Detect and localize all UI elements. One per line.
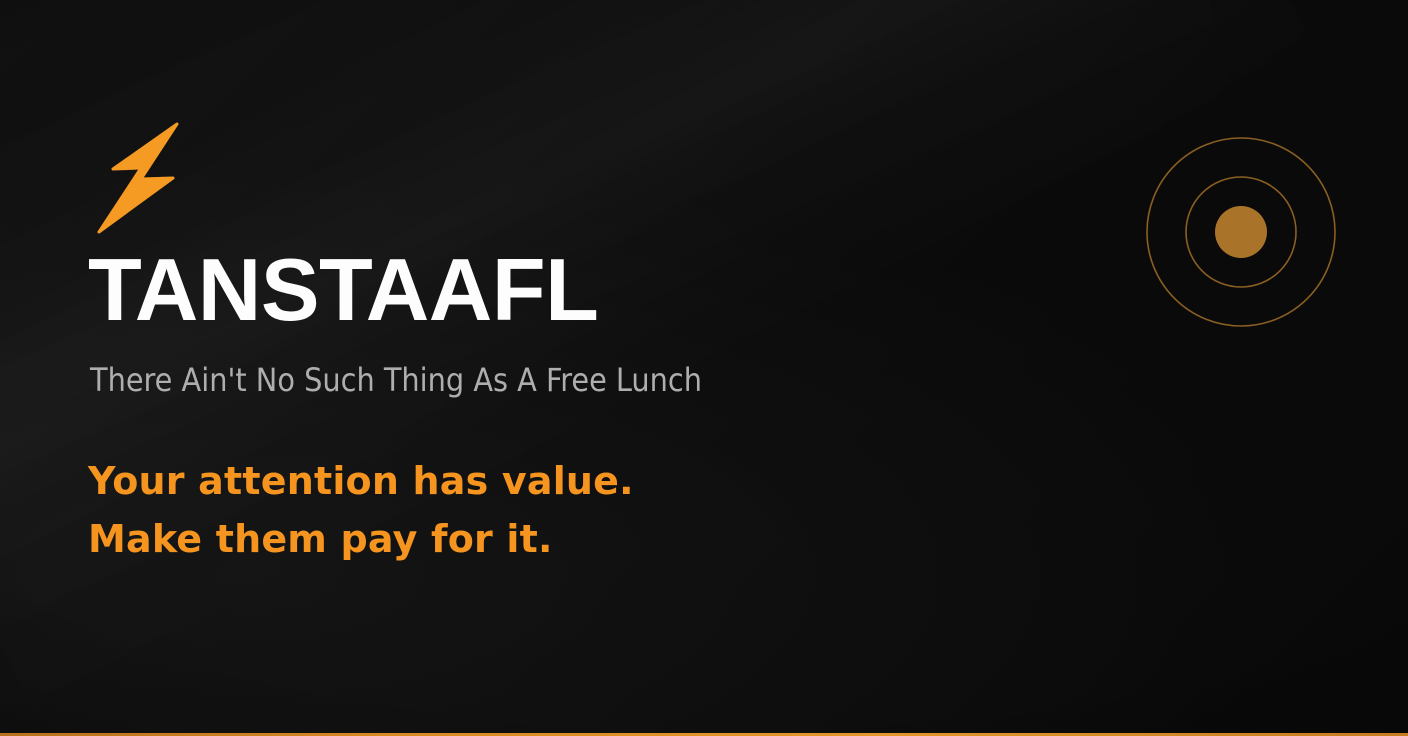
- pitch-line-2: Make them pay for it.: [88, 510, 634, 568]
- pitch-block: Your attention has value. Make them pay …: [88, 452, 634, 568]
- pitch-line-1: Your attention has value.: [88, 452, 634, 510]
- concentric-target-icon: [1146, 137, 1336, 327]
- brand-tagline: There Ain't No Such Thing As A Free Lunc…: [90, 361, 702, 399]
- lightning-bolt-shape: [99, 124, 177, 232]
- target-center-dot: [1215, 206, 1267, 258]
- content-column: TANSTAAFL There Ain't No Such Thing As A…: [88, 0, 1088, 736]
- lightning-bolt-icon: [95, 122, 181, 234]
- brand-splash-screen: TANSTAAFL There Ain't No Such Thing As A…: [0, 0, 1408, 736]
- page-title: TANSTAAFL: [88, 246, 598, 334]
